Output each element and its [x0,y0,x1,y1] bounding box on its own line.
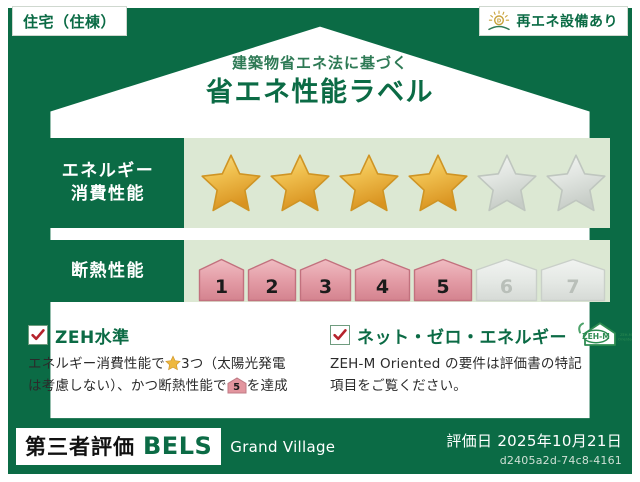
insulation-grade-scale: 1234567 [184,240,610,302]
note-nze-heading: ネット・ゼロ・エネルギー [357,323,567,348]
badge-renewable-label: 再エネ設備あり [517,11,619,31]
insulation-grade-number: 7 [540,278,606,297]
star-filled-icon [405,151,471,215]
checkbox-net-zero-checked [330,325,350,345]
star-empty-icon [474,151,540,215]
energy-star-rating [184,151,610,215]
insulation-grade-number: 5 [413,278,473,297]
insulation-grade-inactive: 7 [540,258,606,302]
note-zeh-body-part3: は考慮しない）、かつ断熱性能で [28,378,227,394]
star-filled-icon [198,151,264,215]
insulation-grade-number: 6 [475,278,538,297]
checkbox-zeh-checked [28,325,48,345]
svg-text:Oriented: Oriented [618,337,632,341]
insulation-grade-number: 3 [299,278,352,297]
note-zeh-body-part1: エネルギー消費性能で [28,356,165,372]
evaluation-date: 評価日 2025年10月21日 [446,430,622,451]
insulation-grade-number: 1 [198,278,245,297]
note-zeh-heading: ZEH水準 [55,323,130,348]
insulation-grade-active: 3 [299,258,352,302]
insulation-grade-active: 2 [247,258,297,302]
inline-star-icon [165,355,181,371]
inline-grade-badge: 5 [227,377,247,394]
note-zeh-standard: ZEH水準 エネルギー消費性能で3つ（太陽光発電 は考慮しない）、かつ断熱性能で… [28,322,310,398]
note-zeh-heading-row: ZEH水準 [28,322,310,348]
inline-grade-number: 5 [227,383,247,393]
energy-performance-label: 住宅（住棟） D 再エネ設備あり 建築物省エネ法に基づ [0,0,640,482]
badge-building-type-label: 住宅（住棟） [23,11,116,32]
star-empty-icon [543,151,609,215]
page-title: 省エネ性能ラベル [0,76,640,110]
note-nze-body: ZEH-M Oriented の要件は評価書の特記 項目をご覧ください。 [330,354,612,398]
svg-text:D: D [496,19,501,25]
note-nze-body-part1: ZEH-M Oriented の要件は評価書の特記 [330,356,582,372]
badge-building-type: 住宅（住棟） [12,6,127,36]
energy-title-line1: エネルギー [62,160,155,183]
note-net-zero-energy: ネット・ゼロ・エネルギー ZEH-M ZEH-M Oriented ZEH-M … [330,322,612,398]
footer-evaluation-block: 評価日 2025年10月21日 d2405a2d-74c8-4161 [446,430,622,467]
energy-consumption-title: エネルギー 消費性能 [32,138,184,228]
note-zeh-body-part2: 3つ（太陽光発電 [181,356,286,372]
svg-text:ZEH-M: ZEH-M [620,333,632,337]
star-filled-icon [336,151,402,215]
note-zeh-body-part4: を達成 [247,378,288,394]
insulation-grade-active: 5 [413,258,473,302]
svg-text:ZEH-M: ZEH-M [582,332,610,341]
bels-badge: 第三者評価 BELS [16,428,221,465]
insulation-grade-active: 4 [354,258,411,302]
insulation-grade-inactive: 6 [475,258,538,302]
bels-japanese-label: 第三者評価 [25,431,135,461]
insulation-title-label: 断熱性能 [71,260,145,283]
energy-title-line2: 消費性能 [71,183,145,206]
insulation-grade-active: 1 [198,258,245,302]
title-block: 建築物省エネ法に基づく 省エネ性能ラベル [0,54,640,110]
bels-wordmark: BELS [143,432,212,460]
insulation-title: 断熱性能 [32,240,184,302]
note-nze-heading-row: ネット・ゼロ・エネルギー ZEH-M ZEH-M Oriented [330,322,612,348]
property-name: Grand Village [230,438,335,456]
note-zeh-body: エネルギー消費性能で3つ（太陽光発電 は考慮しない）、かつ断熱性能で5を達成 [28,354,310,398]
evaluation-id: d2405a2d-74c8-4161 [446,454,622,467]
title-subtitle: 建築物省エネ法に基づく [0,54,640,72]
insulation-grade-number: 4 [354,278,411,297]
badge-renewable-equipment: D 再エネ設備あり [479,6,629,36]
insulation-performance-row: 断熱性能 1234567 [32,240,610,302]
insulation-grade-number: 2 [247,278,297,297]
energy-consumption-row: エネルギー 消費性能 [32,138,610,228]
zeh-m-oriented-logo: ZEH-M ZEH-M Oriented [574,320,632,350]
star-filled-icon [267,151,333,215]
note-nze-body-part2: 項目をご覧ください。 [330,378,467,394]
footer-bels-block: 第三者評価 BELS Grand Village [16,428,335,465]
sun-renewable-icon: D [486,10,512,32]
